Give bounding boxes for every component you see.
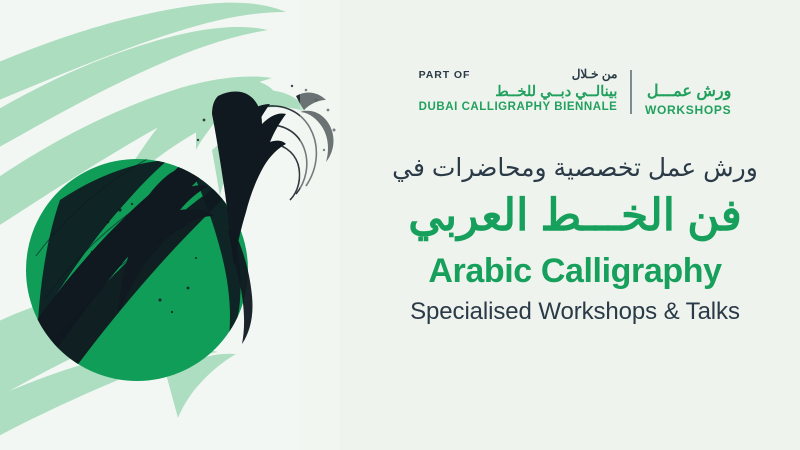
part-of-label-arabic: من خـلال [572, 68, 618, 82]
calligraphic-ink-artwork [0, 0, 340, 450]
headline-arabic-subtitle: ورش عمل تخصصية ومحاضرات في [350, 152, 800, 186]
artwork-svg [0, 0, 340, 450]
headline-english-subtitle: Specialised Workshops & Talks [350, 296, 800, 327]
headline-arabic-title: فن الخـــط العربي [350, 188, 800, 243]
workshops-logo-block: ورش عمـــل WORKSHOPS [632, 68, 731, 117]
workshops-label-english: WORKSHOPS [645, 103, 731, 117]
biennale-name-english: DUBAI CALLIGRAPHY BIENNALE [419, 101, 618, 113]
part-of-label: PART OF [419, 69, 471, 81]
partner-credit-bar: PART OF من خـلال بينالــي دبــي للخــط D… [350, 68, 800, 117]
content-column: PART OF من خـلال بينالــي دبــي للخــط D… [350, 0, 800, 450]
biennale-credit-block: PART OF من خـلال بينالــي دبــي للخــط D… [419, 68, 631, 113]
headline-stack: ورش عمل تخصصية ومحاضرات في فن الخـــط ال… [350, 152, 800, 327]
part-of-row: PART OF من خـلال [419, 68, 618, 82]
biennale-name-arabic: بينالــي دبــي للخــط [419, 84, 618, 100]
workshops-label-arabic: ورش عمـــل [645, 81, 731, 101]
poster-canvas: PART OF من خـلال بينالــي دبــي للخــط D… [0, 0, 800, 450]
headline-english-title: Arabic Calligraphy [350, 251, 800, 292]
